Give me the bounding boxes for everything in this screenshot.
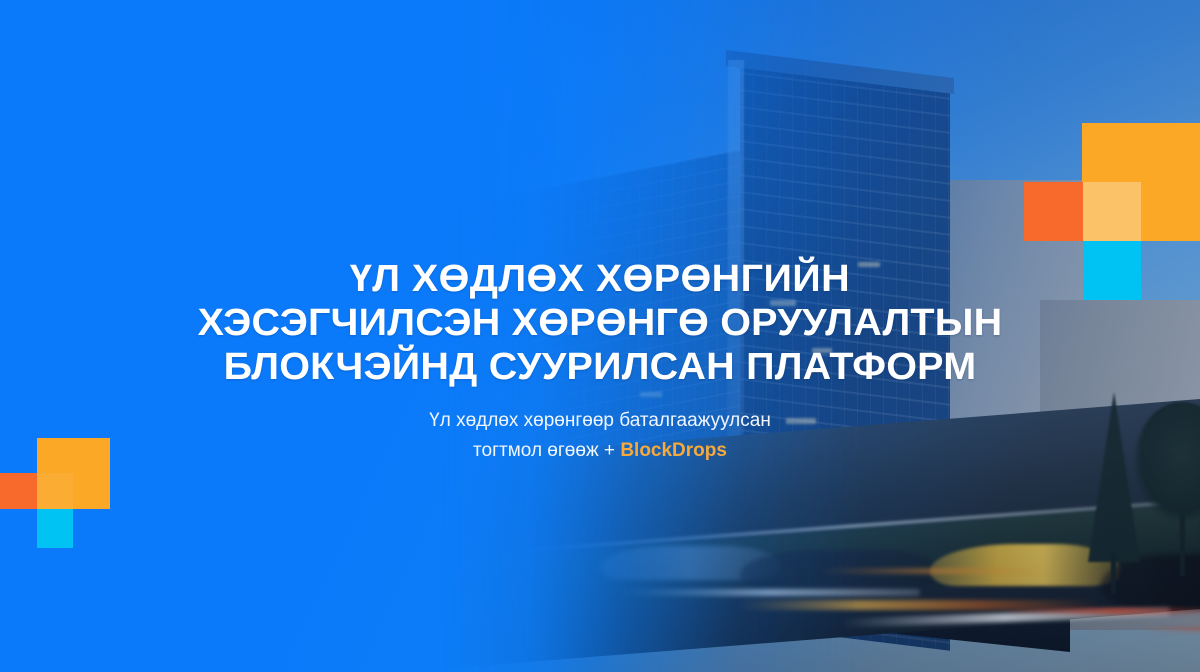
headline-line-2: ХЭСЭГЧИЛСЭН ХӨРӨНГӨ ОРУУЛАЛТЫН [0, 301, 1200, 345]
hero-subtitle: Үл хөдлөх хөрөнгөөр баталгаажуулсан тогт… [0, 406, 1200, 466]
hero-banner: ҮЛ ХӨДЛӨХ ХӨРӨНГИЙН ХЭСЭГЧИЛСЭН ХӨРӨНГӨ … [0, 0, 1200, 672]
decor-translucent-square-top-right [1083, 182, 1141, 241]
decor-orange-square-top-right [1024, 182, 1083, 241]
brand-name-blockdrops: BlockDrops [620, 440, 727, 461]
subtitle-prefix: тогтмол өгөөж + [473, 440, 620, 461]
decor-orange-square-bottom-left [0, 473, 37, 509]
headline-line-3: БЛОКЧЭЙНД СУУРИЛСАН ПЛАТФОРМ [0, 345, 1200, 389]
subtitle-line-2: тогтмол өгөөж + BlockDrops [0, 436, 1200, 466]
headline-line-1: ҮЛ ХӨДЛӨХ ХӨРӨНГИЙН [0, 257, 1200, 301]
decor-translucent-square-bottom-left [37, 473, 73, 509]
subtitle-line-1: Үл хөдлөх хөрөнгөөр баталгаажуулсан [0, 406, 1200, 436]
decor-cyan-square-bottom-left [37, 509, 73, 548]
page-title: ҮЛ ХӨДЛӨХ ХӨРӨНГИЙН ХЭСЭГЧИЛСЭН ХӨРӨНГӨ … [0, 257, 1200, 389]
